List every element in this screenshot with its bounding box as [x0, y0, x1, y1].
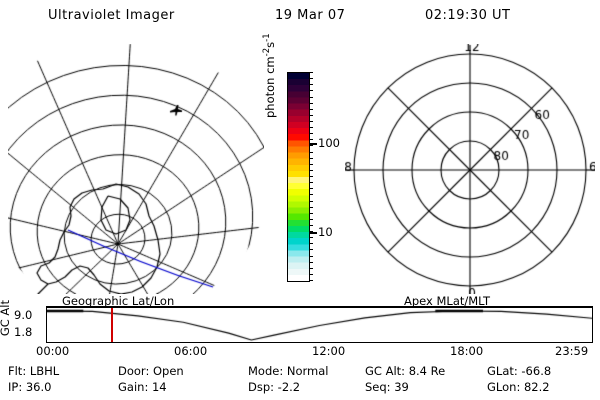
magnetic-image-canvas[interactable] [345, 44, 595, 294]
colorbar-minor-tick [309, 97, 313, 98]
status-field: GC Alt: 8.4 Re [365, 364, 445, 378]
colorbar-minor-tick [309, 72, 313, 73]
colorbar-minor-tick [309, 256, 313, 257]
time-cursor[interactable] [111, 308, 113, 342]
colorbar-minor-tick [309, 182, 313, 183]
colorbar-unit-mid: s [263, 42, 277, 48]
status-field: Flt: LBHL [8, 364, 59, 378]
colorbar-minor-tick [309, 219, 313, 220]
status-field: IP: 36.0 [8, 380, 51, 394]
colorbar-minor-tick [309, 274, 313, 275]
altitude-tick-max: 9.0 [14, 308, 32, 322]
time-axis-tick-label: 00:00 [36, 344, 69, 358]
colorbar-unit-exp1: -2 [262, 48, 272, 56]
colorbar-minor-tick [309, 280, 313, 281]
instrument-title: Ultraviolet Imager [48, 8, 175, 23]
colorbar-tick-label: 100 [318, 136, 340, 150]
colorbar-minor-tick [309, 78, 313, 79]
colorbar-minor-tick [309, 170, 313, 171]
status-footer: Flt: LBHLIP: 36.0Door: OpenGain: 14Mode:… [0, 364, 600, 398]
colorbar-gradient [288, 73, 309, 281]
colorbar-minor-tick [309, 201, 313, 202]
altitude-trace-canvas [47, 308, 592, 342]
status-field: GLon: 82.2 [487, 380, 550, 394]
colorbar-minor-tick [309, 262, 313, 263]
colorbar-minor-tick [309, 84, 313, 85]
altitude-tick-min: 1.8 [14, 325, 32, 339]
colorbar-minor-tick [309, 133, 313, 134]
status-field: Door: Open [118, 364, 184, 378]
colorbar-minor-tick [309, 121, 313, 122]
geographic-projection-panel[interactable] [8, 44, 264, 294]
status-field: Dsp: -2.2 [248, 380, 300, 394]
colorbar-minor-tick [309, 176, 313, 177]
colorbar-unit-exp2: -1 [262, 33, 272, 41]
colorbar-minor-tick [309, 109, 313, 110]
colorbar-minor-tick [309, 145, 313, 146]
colorbar-minor-tick [309, 268, 313, 269]
colorbar-minor-tick [309, 127, 313, 128]
colorbar-minor-tick [309, 139, 313, 140]
magnetic-projection-panel[interactable] [345, 44, 595, 294]
altitude-axis-title: GC Alt [0, 300, 12, 336]
time-axis-tick-label: 06:00 [174, 344, 207, 358]
status-field: GLat: -66.8 [487, 364, 551, 378]
status-field: Mode: Normal [248, 364, 328, 378]
time-axis-tick-label: 18:00 [450, 344, 483, 358]
colorbar-minor-tick [309, 90, 313, 91]
colorbar-minor-tick [309, 188, 313, 189]
colorbar-minor-tick [309, 158, 313, 159]
colorbar-minor-tick [309, 243, 313, 244]
colorbar-minor-tick [309, 213, 313, 214]
colorbar-minor-tick [309, 103, 313, 104]
colorbar-minor-tick [309, 237, 313, 238]
colorbar-minor-tick [309, 207, 313, 208]
colorbar-major-tick [309, 143, 317, 145]
colorbar-minor-tick [309, 194, 313, 195]
colorbar-minor-tick [309, 164, 313, 165]
status-field: Gain: 14 [118, 380, 167, 394]
time-axis-tick-label: 23:59 [555, 344, 588, 358]
colorbar-unit-main: photon cm [263, 56, 277, 118]
colorbar-tick-label: 10 [318, 225, 333, 239]
header-bar: Ultraviolet Imager 19 Mar 07 02:19:30 UT [0, 6, 600, 30]
colorbar-minor-tick [309, 225, 313, 226]
time-axis-tick-label: 12:00 [312, 344, 345, 358]
status-field: Seq: 39 [365, 380, 409, 394]
colorbar-minor-tick [309, 152, 313, 153]
observation-time: 02:19:30 UT [425, 8, 510, 23]
colorbar-axis-label: photon cm-2s-1 [262, 33, 277, 118]
colorbar[interactable] [287, 72, 310, 282]
colorbar-minor-tick [309, 249, 313, 250]
geographic-image-canvas[interactable] [8, 44, 264, 294]
colorbar-minor-tick [309, 115, 313, 116]
observation-date: 19 Mar 07 [275, 8, 345, 23]
altitude-timeseries-plot[interactable] [46, 306, 593, 343]
colorbar-major-tick [309, 232, 317, 234]
